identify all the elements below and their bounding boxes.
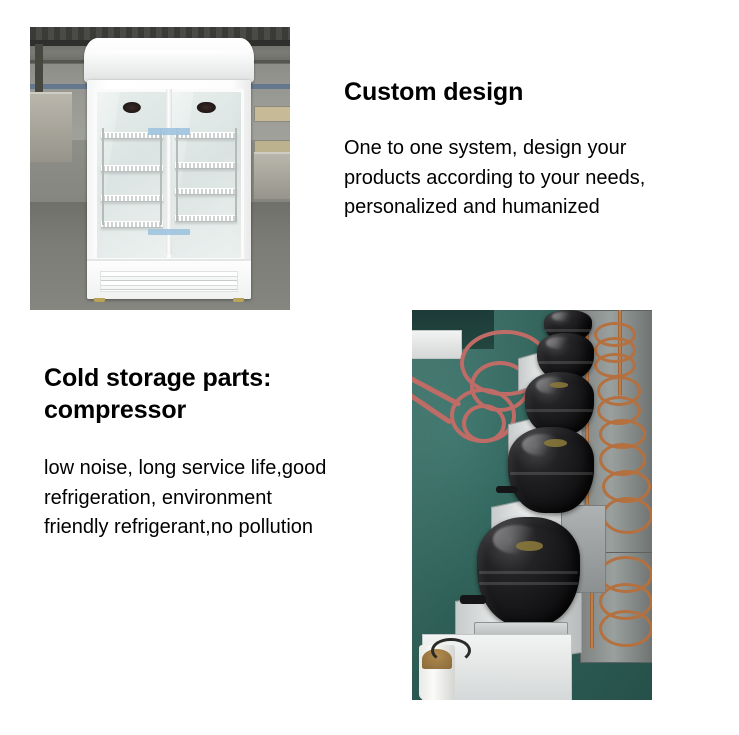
custom-design-text-block: Custom design One to one system, design … — [344, 76, 704, 223]
red-air-hose-coil — [462, 404, 506, 443]
fridge-light-canopy — [84, 38, 254, 82]
fridge-foot — [94, 298, 105, 302]
wire-shelf — [101, 195, 163, 202]
blue-tape-upper — [148, 128, 191, 135]
compressor-seam — [479, 582, 578, 585]
interior-fan-right — [197, 102, 215, 114]
wire-shelf — [175, 188, 237, 195]
compressor-connector — [460, 595, 486, 604]
wire-shelf — [101, 221, 163, 228]
bucket-handle — [431, 638, 471, 664]
blue-tape-lower — [148, 229, 191, 236]
refrigerator-unit — [87, 38, 251, 298]
compressor-seam — [526, 409, 593, 412]
warehouse-pillar — [35, 44, 43, 95]
copper-coil — [599, 610, 652, 647]
compressor-seam — [545, 329, 591, 332]
shelf-rail — [160, 128, 162, 224]
fridge-door-right — [168, 89, 244, 261]
custom-design-heading: Custom design — [344, 76, 704, 108]
compressor-unit — [508, 427, 594, 513]
shelf-rail — [176, 128, 178, 221]
pallet-rack — [254, 106, 290, 122]
compressor-label — [550, 382, 568, 388]
fridge-base-panel — [87, 259, 251, 298]
compressor-seam — [479, 571, 578, 574]
copper-coil — [602, 497, 652, 534]
stacked-stock — [30, 92, 72, 162]
display-fridge-photo — [30, 27, 290, 310]
fridge-foot — [233, 298, 244, 302]
cold-storage-heading: Cold storage parts: compressor — [44, 362, 334, 426]
wire-shelf — [175, 162, 237, 169]
stacked-stock — [254, 152, 290, 199]
compressor-unit — [525, 372, 595, 434]
base-louver-vents — [100, 271, 238, 292]
wire-shelf — [101, 165, 163, 172]
wire-shelf — [175, 215, 237, 222]
compressor-line-photo — [412, 310, 652, 700]
cold-storage-text-block: Cold storage parts: compressor low noise… — [44, 362, 334, 543]
compressor-seam — [510, 472, 593, 475]
compressor-seam — [538, 361, 593, 364]
equipment-edge — [412, 330, 462, 359]
compressor-connector — [496, 486, 518, 494]
fridge-cabinet — [87, 80, 251, 299]
fridge-door-left — [94, 89, 170, 261]
compressor-unit — [477, 517, 580, 626]
interior-fan-left — [123, 102, 141, 114]
custom-design-body: One to one system, design your products … — [344, 134, 704, 223]
shelf-rail — [102, 128, 104, 224]
compressor-label — [516, 541, 543, 551]
compressor-label — [544, 439, 566, 447]
shelf-rail — [235, 128, 237, 221]
cold-storage-body: low noise, long service life,good refrig… — [44, 454, 334, 543]
